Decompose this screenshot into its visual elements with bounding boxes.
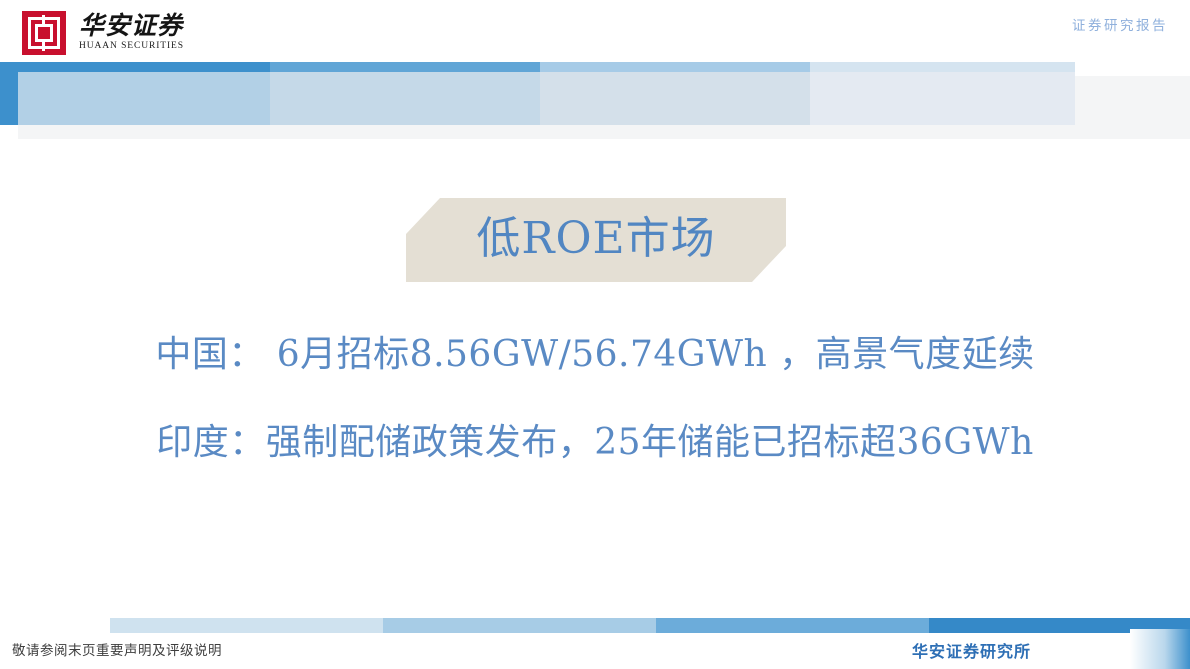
banner-lower-segment-2: [270, 72, 540, 125]
banner-lower-segment-4: [810, 72, 1075, 125]
banner-lower-segment-3: [540, 72, 810, 125]
body-line-india: 印度：强制配储政策发布，25年储能已招标超36GWh: [0, 413, 1190, 465]
report-type-label: 证券研究报告: [1072, 14, 1168, 34]
corner-gradient-accent: [1130, 629, 1190, 669]
brand-name-cn: 华安证券: [79, 13, 184, 39]
brand-wordmark: 华安证券 HUAAN SECURITIES: [79, 11, 184, 51]
banner-top-segment-4: [810, 62, 1075, 72]
page-header: 华安证券 HUAAN SECURITIES 证券研究报告: [0, 0, 1190, 62]
decorative-banner: [0, 62, 1190, 142]
banner-top-segment-1: [0, 62, 270, 72]
footer-bar-segment-1: [110, 618, 383, 633]
banner-top-segment-2: [270, 62, 540, 72]
page-title: 低ROE市场: [476, 217, 715, 264]
huaan-logo-icon: [22, 11, 66, 55]
body-line-china: 中国： 6月招标8.56GW/56.74GWh ，高景气度延续: [0, 325, 1190, 377]
footer-organization: 华安证券研究所: [912, 638, 1031, 662]
banner-lower-segment-1: [18, 72, 270, 125]
banner-top-segment-3: [540, 62, 810, 72]
brand-logo-block: 华安证券 HUAAN SECURITIES: [22, 11, 184, 55]
footer-bar-segment-3: [656, 618, 929, 633]
footer-bar-segment-2: [383, 618, 656, 633]
slide-title-plaque: 低ROE市场: [406, 198, 786, 282]
page-footer: 敬请参阅末页重要声明及评级说明 华安证券研究所: [0, 605, 1190, 669]
footer-disclaimer: 敬请参阅末页重要声明及评级说明: [12, 639, 222, 659]
brand-name-en: HUAAN SECURITIES: [79, 41, 184, 51]
